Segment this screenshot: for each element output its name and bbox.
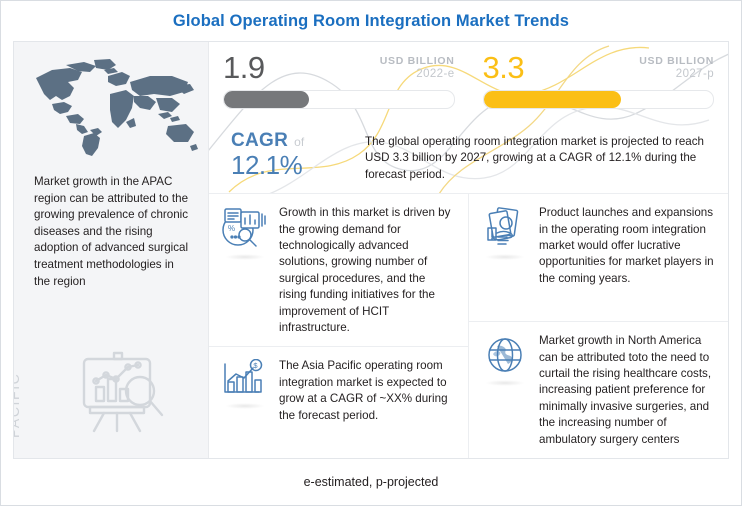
world-map-container — [14, 42, 208, 170]
period-label-2022: 2022-e — [380, 68, 455, 80]
svg-text:%: % — [228, 224, 235, 233]
icon-shadow — [225, 403, 265, 409]
footer-legend: e-estimated, p-projected — [304, 475, 439, 489]
footer-note: e-estimated, p-projected — [1, 459, 741, 505]
market-unit-2022: USD BILLION 2022-e — [380, 52, 455, 80]
insight-box-growth-drivers: % Growth in this market is driven by the… — [209, 194, 468, 347]
insight-box-product-launches: Product launches and expansions in the o… — [469, 194, 728, 322]
market-card-2027: 3.3 USD BILLION 2027-p — [469, 42, 729, 124]
apac-watermark-label: ASIA PACIFIC — [13, 373, 22, 438]
globe-icon — [479, 332, 531, 386]
market-unit-2027: USD BILLION 2027-p — [639, 52, 714, 80]
unit-label-2022: USD BILLION — [380, 55, 455, 67]
world-map-icon — [22, 56, 200, 160]
progress-fill-2022 — [224, 91, 309, 108]
cagr-row: CAGR of 12.1% The global operating room … — [209, 124, 728, 194]
market-value-2022: 1.9 — [223, 52, 265, 84]
infographic-page: Global Operating Room Integration Market… — [0, 0, 742, 506]
insight-text-product-launches: Product launches and expansions in the o… — [539, 204, 716, 287]
insight-column-left: % Growth in this market is driven by the… — [209, 194, 469, 458]
apac-watermark-block: ASIA PACIFIC — [14, 320, 208, 452]
cagr-of-label: of — [294, 135, 304, 149]
cagr-block: CAGR of 12.1% — [223, 130, 365, 179]
main-frame: Market growth in the APAC region can be … — [13, 41, 729, 459]
cagr-description: The global operating room integration ma… — [365, 130, 714, 183]
hand-holding-money-icon — [479, 204, 531, 260]
insight-box-apac-cagr: $ The Asia Pacific operating room integr… — [209, 347, 468, 458]
market-value-2027: 3.3 — [483, 52, 525, 84]
svg-text:$: $ — [253, 361, 258, 370]
document-chart-analysis-icon: % — [219, 204, 271, 260]
progress-track-2027 — [483, 90, 715, 109]
cagr-label: CAGR — [231, 130, 288, 152]
period-label-2027: 2027-p — [639, 68, 714, 80]
page-title: Global Operating Room Integration Market… — [173, 12, 569, 31]
icon-shadow — [485, 380, 525, 386]
progress-fill-2027 — [484, 91, 622, 108]
sidebar: Market growth in the APAC region can be … — [14, 42, 209, 458]
sidebar-note: Market growth in the APAC region can be … — [14, 170, 208, 290]
insight-box-north-america: Market growth in North America can be at… — [469, 322, 728, 458]
market-card-2022: 1.9 USD BILLION 2022-e — [209, 42, 469, 124]
icon-shadow — [485, 254, 525, 260]
market-value-cards: 1.9 USD BILLION 2022-e 3.3 USD — [209, 42, 728, 124]
insight-text-north-america: Market growth in North America can be at… — [539, 332, 716, 448]
insight-column-right: Product launches and expansions in the o… — [469, 194, 728, 458]
title-bar: Global Operating Room Integration Market… — [1, 1, 741, 41]
cagr-value: 12.1% — [231, 151, 365, 179]
insight-text-growth-drivers: Growth in this market is driven by the g… — [279, 204, 456, 336]
content-area: 1.9 USD BILLION 2022-e 3.3 USD — [209, 42, 728, 458]
insight-boxes: % Growth in this market is driven by the… — [209, 194, 728, 458]
growth-bar-chart-dollar-icon: $ — [219, 357, 271, 409]
presentation-chart-magnifier-icon — [70, 343, 174, 440]
icon-shadow — [225, 254, 265, 260]
unit-label-2027: USD BILLION — [639, 55, 714, 67]
progress-track-2022 — [223, 90, 455, 109]
insight-text-apac-cagr: The Asia Pacific operating room integrat… — [279, 357, 456, 424]
